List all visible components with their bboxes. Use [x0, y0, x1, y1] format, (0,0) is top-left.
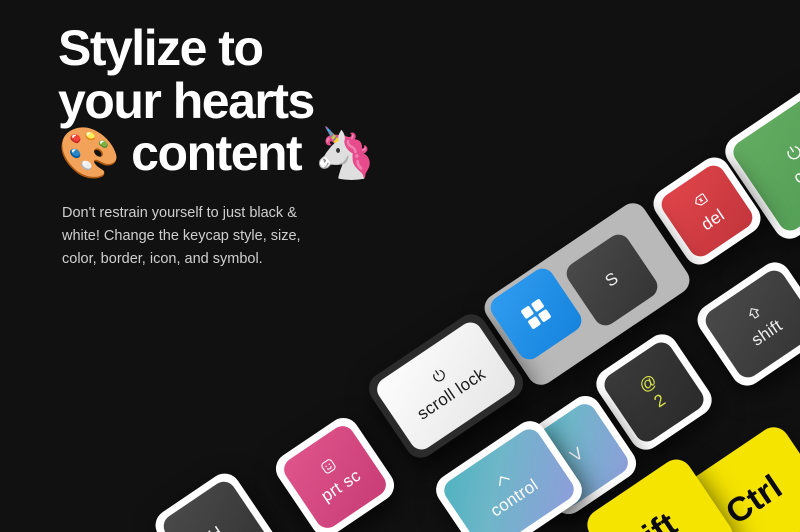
keycap-s-label: S	[602, 268, 623, 291]
keycap-shift-face: shift	[701, 266, 800, 382]
keycap-h-face: H	[159, 477, 273, 532]
shift-arrow-icon	[743, 303, 764, 324]
keycap-shift[interactable]: shift	[691, 256, 800, 392]
keycap-prt-sc-face: prt sc	[279, 421, 390, 532]
caret-up-icon	[491, 469, 512, 489]
keycap-scroll-lock-face: scroll lock	[373, 318, 520, 454]
keycap-h[interactable]: H	[149, 467, 282, 532]
delete-left-icon	[689, 190, 710, 211]
page-subtext: Don't restrain yourself to just black & …	[62, 202, 347, 272]
keycap-prt-sc[interactable]: prt sc	[270, 412, 400, 532]
smiley-icon	[317, 456, 338, 477]
keyboard-scene: cap del shift S	[0, 0, 800, 532]
keycap-del-label: del	[697, 205, 728, 235]
windows-icon	[515, 293, 557, 335]
power-icon	[429, 366, 448, 385]
page-title: Stylize to your hearts 🎨 content 🦄	[58, 22, 488, 180]
copy-block: Stylize to your hearts 🎨 content 🦄 Don't…	[58, 22, 488, 272]
keycap-scroll-lock-label: scroll lock	[414, 364, 490, 424]
keycap-v-label: V	[567, 443, 588, 466]
power-icon	[783, 141, 800, 163]
keycap-ctrl-label: Ctrl	[719, 467, 789, 532]
keycap-at-2-label: 2	[650, 390, 669, 412]
keycap-h-label: H	[205, 522, 227, 532]
keycap-shift-yellow-label: ift	[636, 505, 684, 532]
